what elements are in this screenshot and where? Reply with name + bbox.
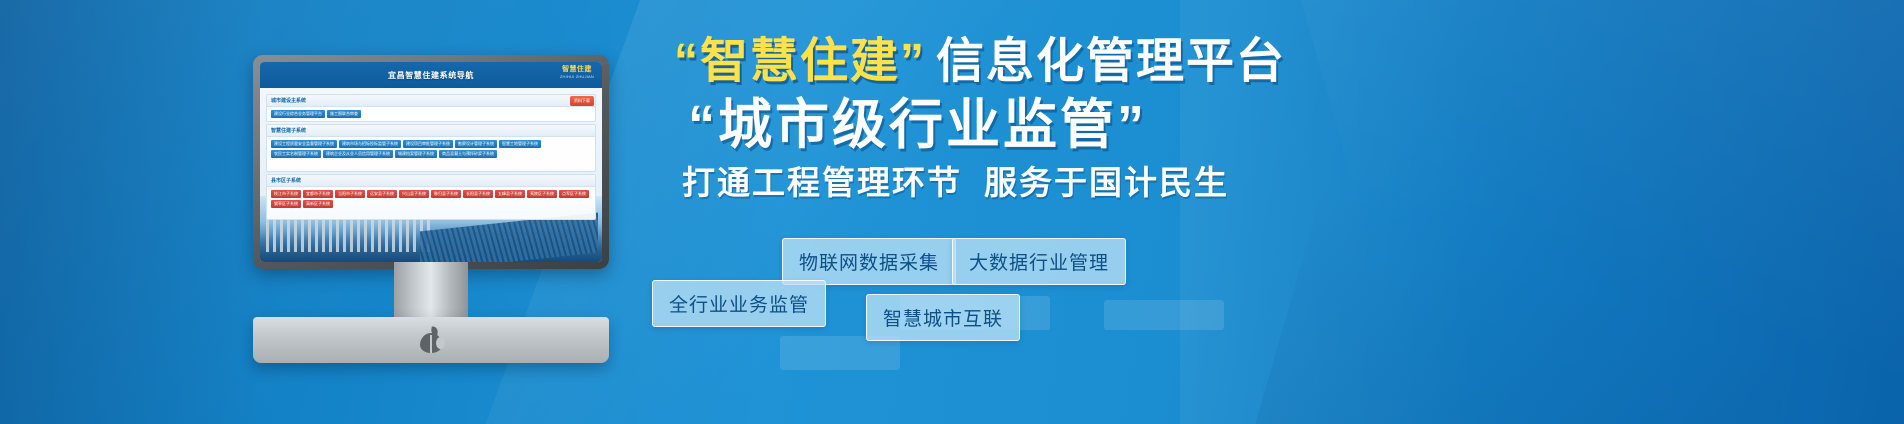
screen-item[interactable]: 秭归县子系统 xyxy=(431,190,461,198)
headline-line-3: 打通工程管理环节服务于国计民生 xyxy=(682,166,1760,199)
feature-chip-smart-city[interactable]: 智慧城市互联 xyxy=(866,294,1020,341)
screen-item[interactable]: 五峰县子系统 xyxy=(495,190,525,198)
screen-item[interactable]: 长阳县子系统 xyxy=(463,190,493,198)
download-button[interactable]: 资料下载 xyxy=(570,96,594,106)
decorative-chip-2 xyxy=(1104,300,1224,330)
screen-logo: 智慧住建 ZHIHUI ZHUJIAN xyxy=(560,66,594,79)
screen-logo-primary: 智慧住建 xyxy=(560,66,594,73)
screen-item[interactable]: 建筑市场与招标投标监管子系统 xyxy=(339,140,401,148)
background-facet-6 xyxy=(0,0,260,424)
screen-item[interactable]: 智慧工地管理子系统 xyxy=(499,140,541,148)
screen-logo-secondary: ZHIHUI ZHUJIAN xyxy=(560,75,594,79)
screen-section-heading: 县市区子系统 xyxy=(267,175,595,187)
screen-section-items: 建设工程质量安全监督管理子系统 建筑市场与招标投标监管子系统 建设项目审批管理子… xyxy=(267,137,595,161)
screen-item[interactable]: 远安县子系统 xyxy=(367,190,397,198)
headline-line-3-part-1: 打通工程管理环节 xyxy=(682,164,962,201)
screen-body: 城市建设主系统 建设行业综合业务管理平台 施工图联合审查 智慧住建子系统 建设工… xyxy=(260,88,602,262)
screen-item[interactable]: 夷陵区子系统 xyxy=(527,190,557,198)
feature-chip-industry-supervision[interactable]: 全行业业务监管 xyxy=(652,280,826,327)
monitor-mockup: 宜昌智慧住建系统导航 智慧住建 ZHIHUI ZHUJIAN 城市建设主系统 建… xyxy=(253,55,609,305)
screen-section-items: 枝江市子系统 宜都市子系统 当阳市子系统 远安县子系统 兴山县子系统 秭归县子系… xyxy=(267,187,595,211)
screen-item[interactable]: 农民工实名制管理子系统 xyxy=(271,150,321,158)
screen-item[interactable]: 点军区子系统 xyxy=(559,190,589,198)
headline-line-2: “城市级行业监管” xyxy=(688,98,1760,152)
screen-header: 宜昌智慧住建系统导航 智慧住建 ZHIHUI ZHUJIAN xyxy=(260,62,602,88)
screen-item[interactable]: 建设项目审批管理子系统 xyxy=(403,140,453,148)
headline-line-1: “智慧住建”信息化管理平台 xyxy=(674,38,1760,86)
background-facet-4 xyxy=(1204,184,1844,424)
screen-item[interactable]: 建筑企业及从业人员信用管理子系统 xyxy=(323,150,393,158)
screen-section-items: 建设行业综合业务管理平台 施工图联合审查 xyxy=(267,107,595,121)
screen-item[interactable]: 高新区子系统 xyxy=(303,200,333,208)
screen-section-smart: 智慧住建子系统 建设工程质量安全监督管理子系统 建筑市场与招标投标监管子系统 建… xyxy=(266,124,596,172)
headline-line-1-rest: 信息化管理平台 xyxy=(936,35,1286,88)
hero-banner: 宜昌智慧住建系统导航 智慧住建 ZHIHUI ZHUJIAN 城市建设主系统 建… xyxy=(0,0,1904,424)
screen-item[interactable]: 宜都市子系统 xyxy=(303,190,333,198)
screen-item[interactable]: 当阳市子系统 xyxy=(335,190,365,198)
monitor-screen: 宜昌智慧住建系统导航 智慧住建 ZHIHUI ZHUJIAN 城市建设主系统 建… xyxy=(260,62,602,262)
screen-section-heading: 智慧住建子系统 xyxy=(267,125,595,137)
screen-item[interactable]: 商品混凝土与预拌砂浆子系统 xyxy=(439,150,497,158)
apple-logo-icon xyxy=(420,327,442,353)
screen-item[interactable]: 城建档案管理子系统 xyxy=(395,150,437,158)
headline-highlight: 智慧住建 xyxy=(700,35,900,88)
headline-line-3-part-2: 服务于国计民生 xyxy=(984,164,1229,201)
feature-chip-iot-data[interactable]: 物联网数据采集 xyxy=(782,238,956,285)
screen-section-heading: 城市建设主系统 xyxy=(267,95,595,107)
monitor-bezel: 宜昌智慧住建系统导航 智慧住建 ZHIHUI ZHUJIAN 城市建设主系统 建… xyxy=(253,55,609,269)
quote-close-mark: ” xyxy=(900,35,926,88)
screen-item[interactable]: 兴山县子系统 xyxy=(399,190,429,198)
screen-item[interactable]: 施工图联合审查 xyxy=(327,110,361,118)
screen-item[interactable]: 勘察设计管理子系统 xyxy=(455,140,497,148)
monitor-stand-neck xyxy=(394,262,468,320)
monitor-stand-base xyxy=(253,317,609,363)
screen-item[interactable]: 猇亭区子系统 xyxy=(271,200,301,208)
screen-section-districts: 县市区子系统 枝江市子系统 宜都市子系统 当阳市子系统 远安县子系统 兴山县子系… xyxy=(266,174,596,220)
screen-section-city: 城市建设主系统 建设行业综合业务管理平台 施工图联合审查 xyxy=(266,94,596,122)
feature-chip-bigdata-management[interactable]: 大数据行业管理 xyxy=(952,238,1126,285)
decorative-chip-3 xyxy=(780,336,900,370)
quote-open-mark: “ xyxy=(674,35,700,88)
headline-block: “智慧住建”信息化管理平台 “城市级行业监管” 打通工程管理环节服务于国计民生 xyxy=(660,38,1760,199)
screen-item[interactable]: 建设行业综合业务管理平台 xyxy=(271,110,325,118)
screen-item[interactable]: 建设工程质量安全监督管理子系统 xyxy=(271,140,337,148)
screen-title: 宜昌智慧住建系统导航 xyxy=(388,70,474,81)
screen-item[interactable]: 枝江市子系统 xyxy=(271,190,301,198)
